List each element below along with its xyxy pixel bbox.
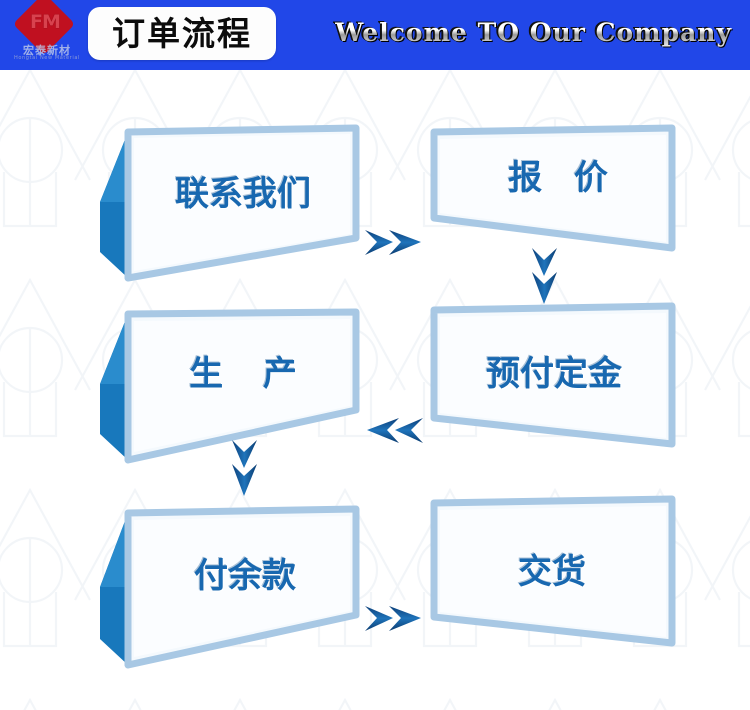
order-process-diagram: FM 宏泰新材 Hongtai New Material 订单流程 Welcom… <box>0 0 750 710</box>
arrow-down-icon-production-to-balance <box>224 438 266 500</box>
flow-node-contact[interactable]: 联系我们 <box>98 110 360 295</box>
flow-node-delivery[interactable]: 交货 <box>428 495 676 685</box>
page-title-pill: 订单流程 <box>88 7 276 60</box>
arrow-right-icon-contact-to-quotation <box>363 222 425 264</box>
arrow-right-icon-balance-to-delivery <box>363 598 425 640</box>
page-title: 订单流程 <box>112 17 252 50</box>
welcome-banner-text: Welcome TO Our Company <box>335 18 732 47</box>
logo-monogram: FM <box>20 11 70 33</box>
arrow-left-icon-deposit-to-production <box>363 410 425 452</box>
diagram-canvas: 联系我们 报 价 生 产 预付定金 <box>0 70 750 710</box>
page-header: FM 宏泰新材 Hongtai New Material 订单流程 Welcom… <box>0 0 750 70</box>
arrow-down-icon-quotation-to-deposit <box>524 246 566 308</box>
company-logo: FM 宏泰新材 Hongtai New Material <box>8 2 86 66</box>
logo-company-name-en: Hongtai New Material <box>8 55 86 61</box>
flow-node-deposit[interactable]: 预付定金 <box>428 302 676 482</box>
flow-node-balance[interactable]: 付余款 <box>98 495 360 685</box>
